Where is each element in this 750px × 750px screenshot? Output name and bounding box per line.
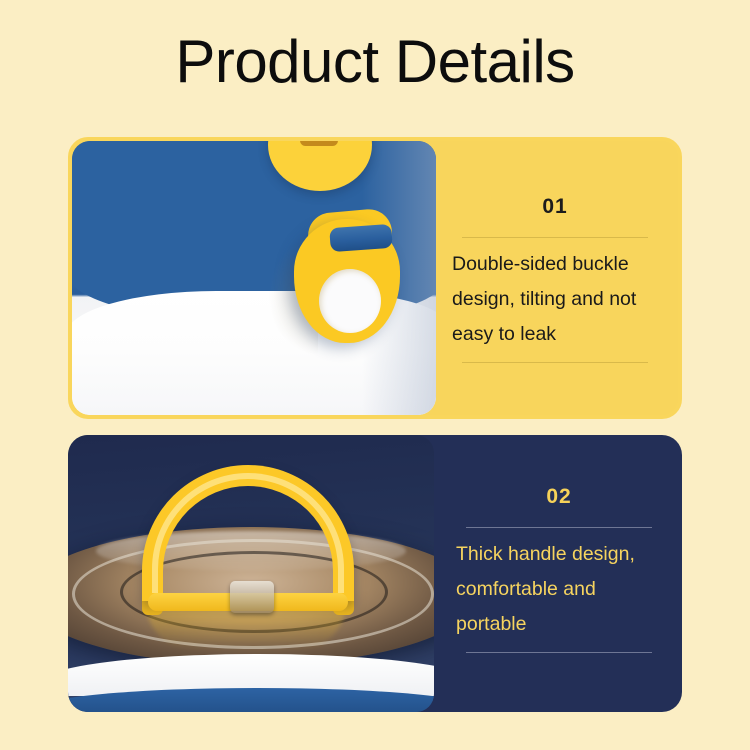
feature-photo-handle [68, 435, 434, 712]
page-title: Product Details [0, 26, 750, 98]
product-details-page: Product Details 01 Double-sided buckle d… [0, 0, 750, 750]
divider-bottom-01 [462, 362, 648, 363]
cap-slot [300, 141, 338, 146]
divider-top-01 [462, 237, 648, 238]
feature-photo-buckle [72, 141, 436, 415]
bottle-blue-band [68, 688, 434, 712]
feature-card-01: 01 Double-sided buckle design, tilting a… [68, 137, 682, 419]
divider-bottom-02 [466, 652, 652, 653]
feature-number-02: 02 [454, 485, 664, 509]
buckle-blue-hinge [329, 224, 393, 252]
feature-text-pane-02: 02 Thick handle design, comfortable and … [440, 435, 682, 712]
handle-clip [230, 581, 274, 613]
buckle-ring-hole [319, 269, 381, 333]
feature-number-01: 01 [450, 195, 660, 219]
feature-card-02: 02 Thick handle design, comfortable and … [68, 435, 682, 712]
feature-description-01: Double-sided buckle design, tilting and … [450, 247, 660, 352]
divider-top-02 [466, 527, 652, 528]
feature-text-pane-01: 01 Double-sided buckle design, tilting a… [436, 141, 678, 415]
feature-description-02: Thick handle design, comfortable and por… [454, 537, 664, 642]
